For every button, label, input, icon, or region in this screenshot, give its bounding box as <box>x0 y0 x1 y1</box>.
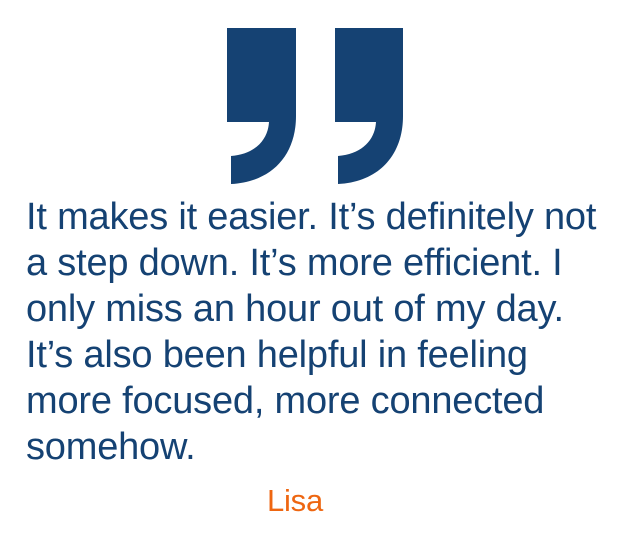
closing-double-quote-icon <box>0 28 630 184</box>
testimonial-card: It makes it easier. It’s definitely not … <box>0 0 630 546</box>
testimonial-author-name: Lisa <box>0 482 590 520</box>
testimonial-quote-text: It makes it easier. It’s definitely not … <box>26 194 616 470</box>
